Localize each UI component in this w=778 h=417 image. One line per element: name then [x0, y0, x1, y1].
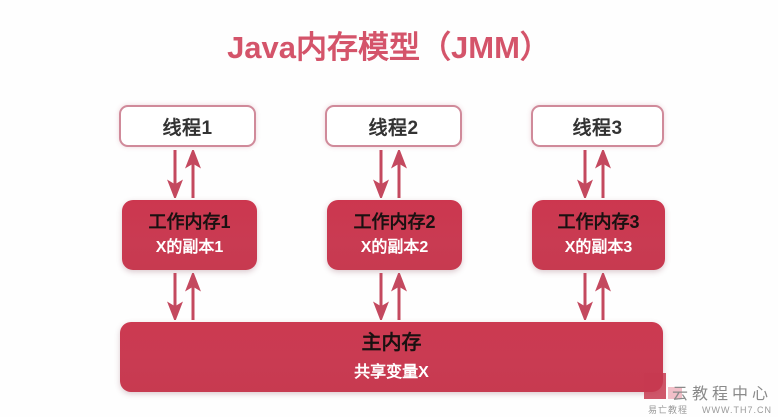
thread-box-1: 线程1: [119, 105, 256, 147]
working-memory-title-3: 工作内存3: [557, 213, 639, 233]
thread-box-3: 线程3: [531, 105, 664, 147]
watermark-sub-right: WWW.TH7.CN: [702, 406, 772, 415]
arrow-pair-working3-main: [576, 273, 616, 320]
arrow-pair-working1-main: [166, 273, 206, 320]
thread-label-2: 线程2: [368, 113, 418, 140]
arrow-up-icon: [390, 273, 410, 320]
working-memory-box-3: 工作内存3 X的副本3: [532, 200, 665, 270]
working-memory-box-1: 工作内存1 X的副本1: [122, 200, 257, 270]
thread-label-1: 线程1: [162, 113, 212, 140]
main-memory-sub: 共享变量X: [354, 364, 429, 382]
working-memory-title-1: 工作内存1: [148, 213, 230, 233]
arrow-up-icon: [184, 273, 204, 320]
arrow-down-icon: [372, 273, 392, 320]
arrow-down-icon: [166, 150, 186, 198]
working-memory-title-2: 工作内存2: [353, 213, 435, 233]
arrow-pair-thread3-working3: [576, 150, 616, 198]
arrow-pair-thread2-working2: [372, 150, 412, 198]
page-title: Java内存模型（JMM）: [0, 22, 778, 67]
arrow-pair-thread1-working1: [166, 150, 206, 198]
watermark-subtitle: 易亡教程 WWW.TH7.CN: [648, 406, 772, 415]
watermark: 云教程中心 易亡教程 WWW.TH7.CN: [648, 387, 772, 415]
arrow-up-icon: [594, 273, 614, 320]
main-memory-title: 主内存: [362, 332, 422, 354]
working-memory-box-2: 工作内存2 X的副本2: [327, 200, 462, 270]
arrow-up-icon: [390, 150, 410, 198]
arrow-up-icon: [184, 150, 204, 198]
arrow-down-icon: [372, 150, 392, 198]
watermark-sub-left: 易亡教程: [648, 406, 688, 415]
working-memory-sub-3: X的副本3: [565, 239, 633, 257]
working-memory-sub-1: X的副本1: [156, 239, 224, 257]
arrow-up-icon: [594, 150, 614, 198]
arrow-pair-working2-main: [372, 273, 412, 320]
thread-box-2: 线程2: [325, 105, 462, 147]
diagram-canvas: Java内存模型（JMM） 线程1 线程2 线程3 工作内存1: [0, 0, 778, 417]
thread-label-3: 线程3: [572, 113, 622, 140]
arrow-down-icon: [576, 150, 596, 198]
watermark-title: 云教程中心: [648, 387, 772, 403]
arrow-down-icon: [576, 273, 596, 320]
main-memory-box: 主内存 共享变量X: [120, 322, 663, 392]
working-memory-sub-2: X的副本2: [361, 239, 429, 257]
arrow-down-icon: [166, 273, 186, 320]
